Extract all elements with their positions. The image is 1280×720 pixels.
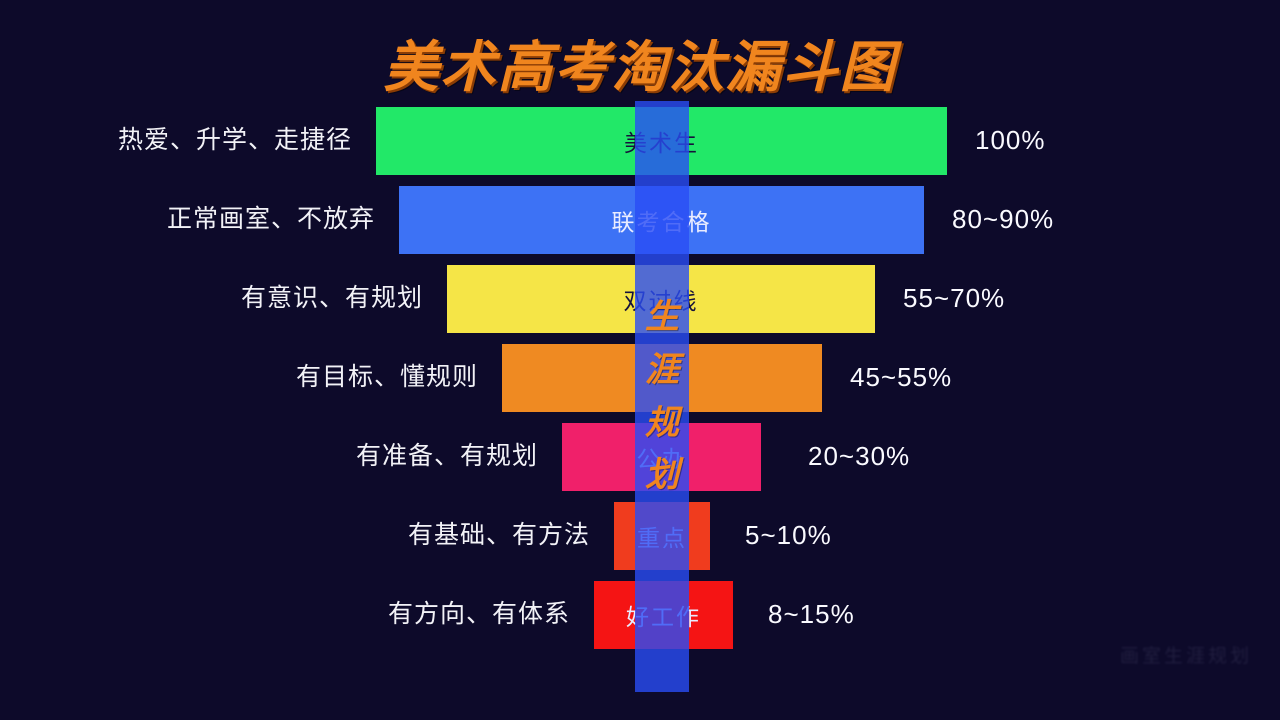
- row-condition-label: 有基础、有方法: [0, 496, 590, 575]
- funnel-bar-label: 双过线: [624, 282, 699, 316]
- row-percent-value: 8~15%: [768, 575, 855, 654]
- row-percent-value: 5~10%: [745, 496, 832, 575]
- funnel-bar[interactable]: 双过线: [447, 265, 875, 333]
- funnel-row: 有基础、有方法 重点 5~10%: [0, 496, 1280, 575]
- funnel-bar-fill: 联考合格: [399, 186, 924, 254]
- funnel-bar[interactable]: 公办: [562, 423, 761, 491]
- funnel-chart-canvas: 美术高考淘汰漏斗图 热爱、升学、走捷径 美术生 100% 正常画室、不放弃 联考…: [0, 0, 1280, 720]
- row-percent-value: 45~55%: [850, 338, 952, 417]
- funnel-bar-fill: 双过线: [447, 265, 875, 333]
- funnel-row: 正常画室、不放弃 联考合格 80~90%: [0, 180, 1280, 259]
- funnel-bar-fill: [502, 344, 822, 412]
- funnel-bar-label: 重点: [637, 519, 687, 553]
- funnel-bar[interactable]: 美术生: [376, 107, 947, 175]
- watermark: 画室生涯规划: [992, 640, 1252, 674]
- funnel-bar-fill: 好工作: [594, 581, 733, 649]
- row-condition-label: 正常画室、不放弃: [0, 180, 375, 259]
- row-condition-label: 有意识、有规划: [0, 259, 423, 338]
- row-condition-label: 有准备、有规划: [0, 417, 538, 496]
- row-percent-value: 100%: [975, 101, 1046, 180]
- row-percent-value: 20~30%: [808, 417, 910, 496]
- funnel-row: 有目标、懂规则 45~55%: [0, 338, 1280, 417]
- row-percent-value: 80~90%: [952, 180, 1054, 259]
- row-condition-label: 有方向、有体系: [0, 575, 570, 654]
- funnel-bar[interactable]: 重点: [614, 502, 710, 570]
- row-condition-label: 热爱、升学、走捷径: [0, 101, 352, 180]
- funnel-bar-label: 联考合格: [612, 203, 712, 237]
- funnel-bar-label: 公办: [637, 440, 687, 474]
- funnel-row: 有准备、有规划 公办 20~30%: [0, 417, 1280, 496]
- funnel-row: 热爱、升学、走捷径 美术生 100%: [0, 101, 1280, 180]
- row-percent-value: 55~70%: [903, 259, 1005, 338]
- funnel-bar[interactable]: [502, 344, 822, 412]
- page-title: 美术高考淘汰漏斗图: [0, 22, 1280, 102]
- funnel-bar-fill: 美术生: [376, 107, 947, 175]
- row-condition-label: 有目标、懂规则: [0, 338, 478, 417]
- funnel-bar-label: 美术生: [624, 124, 699, 158]
- funnel-bar-fill: 重点: [614, 502, 710, 570]
- funnel-rows-container: 热爱、升学、走捷径 美术生 100% 正常画室、不放弃 联考合格 80~90% …: [0, 101, 1280, 701]
- funnel-bar-fill: 公办: [562, 423, 761, 491]
- funnel-bar-label: 好工作: [626, 598, 701, 632]
- funnel-row: 有意识、有规划 双过线 55~70%: [0, 259, 1280, 338]
- funnel-bar[interactable]: 联考合格: [399, 186, 924, 254]
- funnel-bar[interactable]: 好工作: [594, 581, 733, 649]
